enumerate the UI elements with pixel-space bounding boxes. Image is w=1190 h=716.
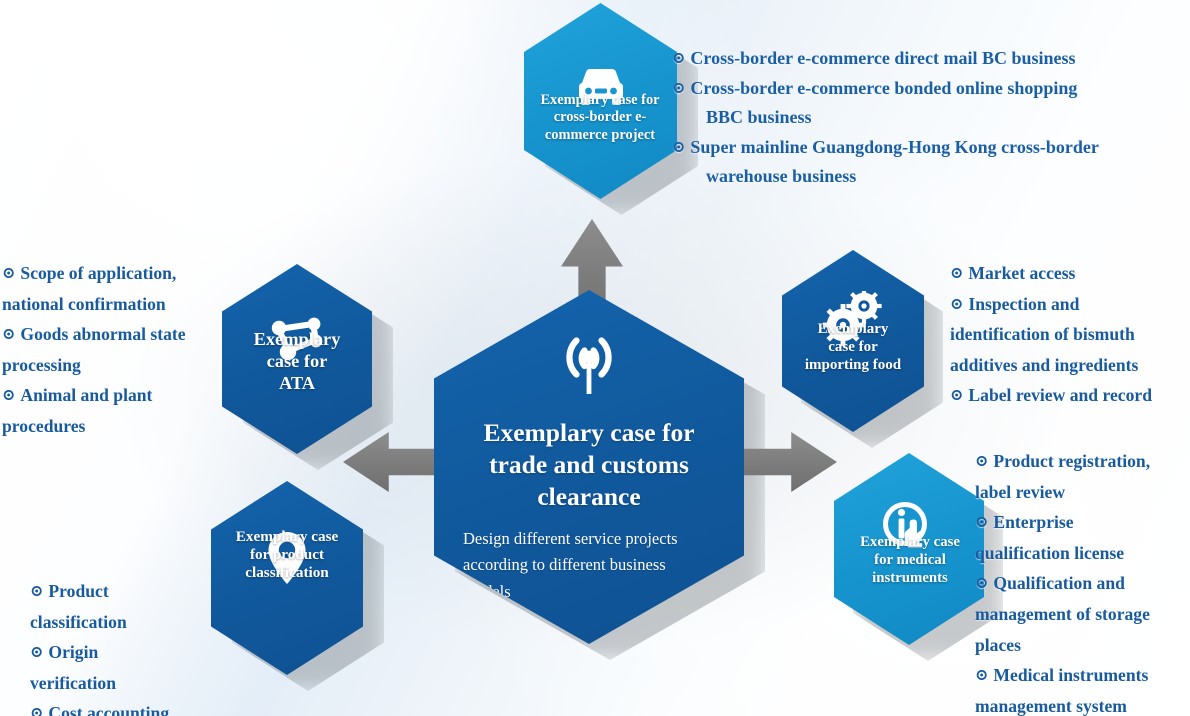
bullet-continuation: verification [30,668,250,699]
bullet-text: Scope of application, [20,263,176,283]
center-node-trade-customs-clearance[interactable]: Exemplary case for trade and customs cle… [434,290,744,644]
bullet-continuation: identification of bismuth [950,319,1190,350]
bullet-continuation: classification [30,607,250,638]
bullet-text: Super mainline Guangdong-Hong Kong cross… [690,137,1098,157]
bullet-text: Product [48,581,108,601]
bullet-text: Origin [48,642,98,662]
bullet-continuation: processing [2,350,234,381]
bullet-continuation: procedures [2,411,234,442]
list-item: ⊙Scope of application, [2,258,234,289]
bullet-continuation: places [975,630,1190,661]
center-node-title: Exemplary case for trade and customs cle… [464,417,714,513]
bullet-marker-icon: ⊙ [30,578,43,606]
bullet-marker-icon: ⊙ [30,639,43,667]
bullet-continuation: management of storage [975,599,1190,630]
bullet-marker-icon: ⊙ [950,382,963,410]
list-item: ⊙Animal and plant [2,380,234,411]
list-item: ⊙Enterprise [975,507,1190,538]
list-item: ⊙Qualification and [975,568,1190,599]
center-node-subtitle: Design different service projects accord… [463,526,715,606]
list-item: ⊙Product [30,576,250,607]
arrow-right-icon [733,432,837,492]
bullets-product-classification: ⊙Product classification ⊙Origin verifica… [30,576,250,716]
node-cross-border-ecommerce[interactable] [524,3,677,199]
bullet-continuation: national confirmation [2,289,234,320]
bullet-marker-icon: ⊙ [950,291,963,319]
node-medical-instruments[interactable] [834,453,984,645]
bullet-marker-icon: ⊙ [975,570,988,598]
bullet-continuation: management system [975,691,1190,716]
bullet-marker-icon: ⊙ [975,509,988,537]
bullet-text: Qualification and [993,573,1125,593]
list-item: ⊙Super mainline Guangdong-Hong Kong cros… [672,133,1190,163]
list-item: ⊙Origin [30,637,250,668]
bullet-marker-icon: ⊙ [30,700,43,716]
list-item: ⊙Label review and record [950,380,1190,411]
broadcast-signal-icon [550,334,628,401]
bullet-text: Product registration, [993,451,1150,471]
network-share-icon [266,315,328,370]
bullet-continuation: additives and ingredients [950,350,1190,381]
bullet-text: Goods abnormal state [20,324,185,344]
gears-icon [823,291,883,352]
list-item: ⊙Product registration, [975,446,1190,477]
bullets-importing-food: ⊙Market access ⊙Inspection and identific… [950,258,1190,411]
list-item: ⊙Market access [950,258,1190,289]
bullet-text: Cost accounting [48,703,169,716]
list-item: ⊙Medical instruments [975,660,1190,691]
bullet-marker-icon: ⊙ [975,662,988,690]
list-item: ⊙Cross-border e-commerce direct mail BC … [672,44,1190,74]
bullets-cross-border-ecommerce: ⊙Cross-border e-commerce direct mail BC … [672,44,1190,192]
list-item: ⊙Goods abnormal state [2,319,234,350]
bullets-medical-instruments: ⊙Product registration, label review ⊙Ent… [975,446,1190,716]
bullet-text: Label review and record [968,385,1152,405]
diagram-canvas: Exemplary case for trade and customs cle… [0,0,1190,716]
bullets-ata: ⊙Scope of application, national confirma… [2,258,234,442]
bullet-marker-icon: ⊙ [672,76,685,102]
bullet-text: Market access [968,263,1075,283]
bullet-marker-icon: ⊙ [2,321,15,349]
node-ata[interactable] [222,264,372,454]
list-item: ⊙Inspection and [950,289,1190,320]
location-pin-icon [266,530,308,591]
bullet-continuation: qualification license [975,538,1190,569]
bullet-continuation: BBC business [672,103,1190,133]
bullet-text: Animal and plant [20,385,152,405]
bullet-text: Inspection and [968,294,1079,314]
list-item: ⊙Cost accounting [30,698,250,716]
car-icon [574,65,628,112]
info-hand-click-icon [880,499,938,560]
bullet-continuation: label review [975,477,1190,508]
bullet-text: Cross-border e-commerce bonded online sh… [690,78,1077,98]
bullet-text: Enterprise [993,512,1073,532]
bullet-text: Cross-border e-commerce direct mail BC b… [690,48,1075,68]
list-item: ⊙Cross-border e-commerce bonded online s… [672,74,1190,104]
bullet-marker-icon: ⊙ [975,448,988,476]
bullet-marker-icon: ⊙ [672,135,685,161]
bullet-text: Medical instruments [993,665,1148,685]
bullet-marker-icon: ⊙ [2,382,15,410]
bullet-marker-icon: ⊙ [672,46,685,72]
node-importing-food[interactable] [782,250,924,432]
arrow-left-icon [343,432,447,492]
bullet-continuation: warehouse business [672,162,1190,192]
bullet-marker-icon: ⊙ [2,260,15,288]
bullet-marker-icon: ⊙ [950,260,963,288]
